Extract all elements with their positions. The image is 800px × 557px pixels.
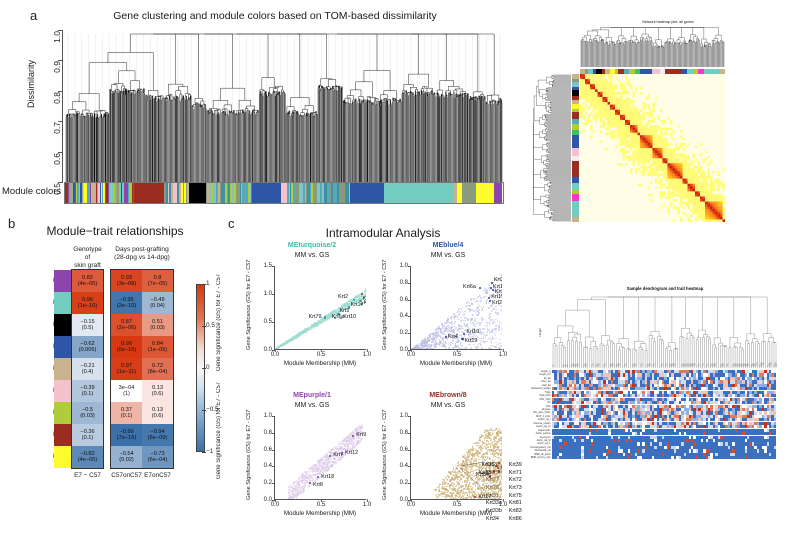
- module-color-swatch: [54, 270, 71, 292]
- module-color-swatch: [54, 446, 71, 468]
- gene-point: [488, 297, 490, 299]
- scatter-plot-mebrown-8: MEbrown/8MM vs. GSKrt32Krt35Krt36Krt85Kr…: [378, 392, 518, 532]
- scatter-y-tick: 0.5: [264, 319, 272, 325]
- network-top-dendrogram: [580, 27, 725, 67]
- scatter-points: Krt32Krt35Krt36Krt85Krt82Krt84Krt17: [411, 416, 502, 499]
- gene-label: Krt10: [466, 329, 479, 335]
- module-color-segment: [189, 183, 206, 203]
- scatter-x-tick: 1.0: [499, 352, 507, 358]
- colorbar-tick-label: 1: [206, 280, 210, 287]
- scatter-y-tick: 1.0: [400, 263, 408, 269]
- module-color-swatch: [54, 292, 71, 314]
- panel-c-title: Intramodular Analysis: [248, 226, 518, 240]
- scatter-x-tick: 0.0: [407, 502, 415, 508]
- gene-label: Krt17: [351, 302, 364, 308]
- scatter-plot-area: Krt32Krt35Krt36Krt85Krt82Krt84Krt170.00.…: [410, 416, 502, 500]
- scatter-points: E7Krt2Krt14Krt16Krt17Krt5Krt79Krt6aKrt10: [275, 266, 366, 349]
- colorbar-axis-label: Gene Significance (GS) for E7 - C57: [216, 274, 222, 371]
- gene-point: [461, 338, 463, 340]
- gene-label: Krt9: [356, 432, 366, 438]
- scatter-x-tick: 0.5: [453, 502, 461, 508]
- gene-label: Krt18: [321, 474, 334, 480]
- scatter-y-tick: 0.8: [400, 430, 408, 436]
- days-column-border: [110, 269, 174, 469]
- module-colors-label: Module colors: [2, 186, 61, 197]
- scatter-x-tick: 1.0: [499, 502, 507, 508]
- sample-dendrogram-title: Sample dendrogram and trait heatmap: [560, 286, 770, 291]
- gene-label: Krt23: [492, 300, 502, 306]
- scatter-subtitle: MM vs. GS: [378, 402, 518, 409]
- scatter-y-tick: 0.6: [264, 447, 272, 453]
- colorbar-tick-label: −1: [206, 448, 213, 455]
- scatter-points: Krt24Krt6aKrt1Krt6bKrt15Krt23Krt4Krt10Kr…: [411, 266, 502, 349]
- sample-dendrogram-y-label: Height: [538, 328, 542, 337]
- gene-label: Krt10: [343, 314, 356, 320]
- gene-label: Krt8: [313, 482, 323, 488]
- module-color-swatch: [54, 402, 71, 424]
- scatter-plot-meturquoise-2: MEturquoise/2MM vs. GSE7Krt2Krt14Krt16Kr…: [242, 242, 382, 382]
- scatter-y-tick: 0.2: [400, 330, 408, 336]
- panel-c-intramodular: c Intramodular Analysis Krt26Krt25Krt27K…: [228, 212, 528, 557]
- scatter-y-tick: 0.2: [400, 480, 408, 486]
- scatter-y-tick: 1.0: [264, 291, 272, 297]
- trait-group-header: Genotype ofskin graft: [72, 246, 103, 271]
- scatter-y-tick: 0.4: [264, 463, 272, 469]
- gene-label: Krt2: [338, 294, 348, 300]
- scatter-y-axis-label: Gene Significance (GS) for E7 - C57: [246, 416, 252, 500]
- scatter-module-title: MEbrown/8: [378, 392, 518, 399]
- scatter-points: Krt9Krt12Krt7Krt18Krt8: [275, 416, 366, 499]
- scatter-module-title: MEturquoise/2: [242, 242, 382, 249]
- network-heatmap-panel: Network heatmap plot, all genes: [528, 18, 800, 238]
- gene-label: Krt79: [309, 314, 322, 320]
- trait-heatmap: weight_glength_cmab_fatother_fattotal_fa…: [552, 370, 777, 470]
- panel-a-y-axis-label: Dissimilarity: [26, 60, 36, 108]
- scatter-x-tick: 0.5: [453, 352, 461, 358]
- scatter-x-tick: 0.0: [271, 352, 279, 358]
- y-tick-label: 0.8: [52, 92, 62, 104]
- panel-b-title: Module−trait relationships: [10, 224, 220, 238]
- gene-label: E7: [365, 288, 366, 294]
- scatter-subtitle: MM vs. GS: [242, 252, 382, 259]
- panel-c-letter: c: [228, 216, 235, 231]
- panel-a-y-axis: 1.00.90.80.70.60.5: [49, 30, 63, 182]
- gene-point: [324, 316, 326, 318]
- gene-label: Krt7: [333, 452, 343, 458]
- scatter-x-tick: 0.0: [407, 352, 415, 358]
- y-tick-label: 0.9: [52, 61, 62, 73]
- scatter-plot-area: Krt24Krt6aKrt1Krt6bKrt15Krt23Krt4Krt10Kr…: [410, 266, 502, 350]
- scatter-y-tick: 0.2: [264, 480, 272, 486]
- colorbar-tick-label: 0.5: [206, 322, 215, 329]
- scatter-plot-area: Krt9Krt12Krt7Krt18Krt80.00.20.40.60.81.0…: [274, 416, 366, 500]
- colorbar-tick-label: 0: [206, 364, 210, 371]
- scatter-x-axis-label: Module Membership (MM): [410, 510, 502, 517]
- y-tick-label: 1.0: [52, 31, 62, 43]
- scatter-y-tick: 0.8: [400, 280, 408, 286]
- gene-point: [489, 300, 491, 302]
- gene-point: [489, 475, 491, 477]
- network-heatmap-title: Network heatmap plot, all genes: [568, 20, 768, 24]
- gene-label: Krt19: [465, 338, 478, 344]
- scatter-x-tick: 0.5: [317, 502, 325, 508]
- scatter-y-tick: 1.5: [264, 263, 272, 269]
- gene-label: Krt5: [339, 308, 349, 314]
- scatter-y-axis-label: Gene Significance (GS) for E7 - C57: [382, 266, 388, 350]
- scatter-x-axis-label: Module Membership (MM): [410, 360, 502, 367]
- scatter-x-tick: 1.0: [363, 502, 371, 508]
- network-left-color-bar: [572, 74, 579, 222]
- module-color-segment: [134, 183, 163, 203]
- module-color-bar: [64, 182, 504, 204]
- network-module-segment: [572, 135, 579, 148]
- module-color-swatch: [54, 424, 71, 446]
- scatter-plot-mepurple-1: MEpurple/1MM vs. GSKrt9Krt12Krt7Krt18Krt…: [242, 392, 382, 532]
- gene-label: Krt24: [494, 277, 502, 283]
- trait-column-label: E7 − C57: [72, 472, 103, 479]
- network-module-segment: [572, 148, 579, 156]
- scatter-y-tick: 0.8: [264, 430, 272, 436]
- trait-column-label: E7onC57: [142, 472, 173, 479]
- module-color-segment: [494, 183, 502, 203]
- gene-dendrogram: [64, 30, 504, 182]
- module-color-segment: [384, 183, 454, 203]
- sample-dendrogram: S1S6S7S8S10S11S12S13S16S17S20S22S23S26S2…: [552, 296, 777, 368]
- scatter-y-tick: 0.6: [400, 297, 408, 303]
- panel-b-module-trait: b Module−trait relationships MEpurple/10…: [0, 212, 228, 557]
- scatter-y-tick: 1.0: [264, 413, 272, 419]
- panel-a-title: Gene clustering and module colors based …: [60, 10, 490, 22]
- gene-label: Krt15: [491, 294, 502, 300]
- trait-heatmap-row: [552, 456, 777, 459]
- trait-row-label: BMD_femurs_only: [531, 456, 551, 459]
- genotype-column-border: [71, 269, 104, 469]
- scatter-y-axis-label: Gene Significance (GS) for E7 - C57: [382, 416, 388, 500]
- scatter-module-title: MEblue/4: [378, 242, 518, 249]
- scatter-x-tick: 0.5: [317, 352, 325, 358]
- y-tick-label: 0.6: [52, 153, 62, 165]
- module-color-swatch: [54, 358, 71, 380]
- gene-label: Krt6a: [463, 284, 476, 290]
- panel-a-gene-clustering: a Gene clustering and module colors base…: [0, 0, 520, 210]
- module-color-segment: [476, 183, 493, 203]
- gene-list-leader-lines: [460, 460, 486, 500]
- scatter-subtitle: MM vs. GS: [242, 402, 382, 409]
- network-module-segment: [572, 217, 579, 222]
- scatter-plot-meblue-4: MEblue/4MM vs. GSKrt24Krt6aKrt1Krt6bKrt1…: [378, 242, 518, 382]
- network-module-segment: [572, 161, 579, 177]
- scatter-x-tick: 1.0: [363, 352, 371, 358]
- scatter-x-axis-label: Module Membership (MM): [274, 510, 366, 517]
- scatter-y-tick: 1.0: [400, 413, 408, 419]
- scatter-x-axis-label: Module Membership (MM): [274, 360, 366, 367]
- module-color-segment: [252, 183, 281, 203]
- gene-point: [493, 470, 495, 472]
- gene-label: Krt16: [363, 300, 366, 306]
- trait-cell: [774, 456, 776, 459]
- scatter-y-tick: 0.4: [400, 313, 408, 319]
- gene-label: Krt82: [501, 470, 502, 476]
- y-tick-label: 0.7: [52, 122, 62, 134]
- scatter-y-axis-label: Gene Significance (GS) for E7 - C57: [246, 266, 252, 350]
- scatter-module-title: MEpurple/1: [242, 392, 382, 399]
- scatter-y-tick: 0.6: [400, 447, 408, 453]
- module-color-segment: [468, 183, 476, 203]
- trait-group-header: Days post-grafting(28-dpg vs 14-dpg): [111, 246, 173, 262]
- network-module-segment: [572, 201, 579, 217]
- colorbar-axis-label: Gene Significance (GS) for E7 - C57: [216, 382, 222, 479]
- module-color-segment: [350, 183, 385, 203]
- module-color-swatch: [54, 336, 71, 358]
- gene-label: Krt12: [345, 450, 358, 456]
- module-color-swatch: [54, 380, 71, 402]
- module-color-swatch: [54, 314, 71, 336]
- scatter-x-tick: 0.0: [271, 502, 279, 508]
- scatter-subtitle: MM vs. GS: [378, 252, 518, 259]
- network-left-dendrogram: [533, 74, 571, 222]
- network-tom-heatmap: [580, 74, 725, 222]
- panel-a-letter: a: [30, 8, 37, 23]
- gene-point: [479, 287, 481, 289]
- scatter-plot-area: E7Krt2Krt14Krt16Krt17Krt5Krt79Krt6aKrt10…: [274, 266, 366, 350]
- gene-point: [353, 299, 355, 301]
- scatter-y-tick: 0.4: [400, 463, 408, 469]
- y-axis-spine: [62, 30, 63, 182]
- gene-label: Krt4: [448, 334, 458, 340]
- trait-column-label: C57onC57: [111, 472, 142, 479]
- sample-dendrogram-panel: Sample dendrogram and trait heatmap Heig…: [520, 258, 800, 553]
